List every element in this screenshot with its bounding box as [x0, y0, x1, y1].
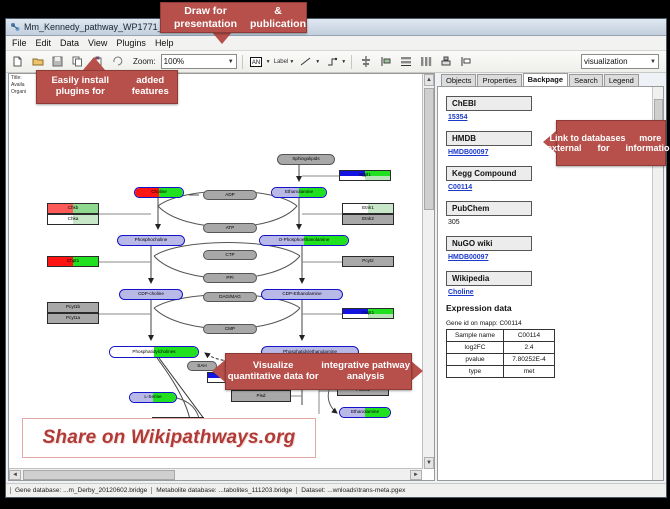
pathway-node-chka[interactable]: Chka — [47, 214, 99, 225]
table-row: type met — [447, 366, 555, 378]
callout-line: Easily install plugins for — [37, 76, 124, 98]
interaction-tool[interactable]: ▼ — [323, 53, 346, 70]
canvas-hscrollbar[interactable]: ◄ ► — [9, 468, 422, 480]
pathway-node-sgpl1[interactable]: Sgpl1 — [339, 170, 391, 181]
db-header-hmdb: HMDB — [446, 131, 532, 146]
menu-bar: File Edit Data View Plugins Help — [6, 36, 666, 51]
expression-table: Sample name C00114 log2FC 2.4 pvalue 7.8… — [446, 329, 555, 378]
pathway-node-chkb[interactable]: Chkb — [47, 203, 99, 214]
menu-item-plugins[interactable]: Plugins — [116, 38, 146, 48]
callout-line: integrative pathway analysis — [320, 361, 411, 383]
node-label: Pcyt1b — [66, 305, 80, 310]
align-left-icon[interactable] — [377, 53, 394, 70]
table-row: log2FC 2.4 — [447, 342, 555, 354]
node-label: Pisd — [257, 394, 266, 399]
exp-val-type: met — [504, 366, 555, 378]
node-label: Choline — [151, 190, 167, 195]
node-label: PPi — [226, 276, 233, 281]
node-label: L-Serine — [144, 395, 161, 400]
db-link-wikipedia[interactable]: Choline — [448, 289, 644, 296]
exp-key-log2fc: log2FC — [447, 342, 504, 354]
chevron-down-icon: ▼ — [228, 59, 234, 65]
pathway-node-pcyt2[interactable]: Pcyt2 — [342, 256, 394, 267]
scroll-down-icon[interactable]: ▼ — [424, 457, 434, 469]
app-icon — [10, 22, 20, 32]
callout-line: Visualize quantitative data for — [226, 361, 320, 383]
node-label: DAG/MAG — [219, 295, 241, 300]
toolbar-separator — [242, 55, 243, 69]
zoom-label: Zoom: — [133, 57, 156, 66]
label-button-text: Label — [274, 59, 289, 65]
callout-install-plugins: Easily install plugins foradded features — [36, 70, 178, 104]
scroll-left-icon[interactable]: ◄ — [9, 470, 21, 480]
datanode-tool[interactable]: AN ▼ — [248, 53, 271, 70]
exp-key-sample-name: Sample name — [447, 330, 504, 342]
pathway-node-etn_r[interactable]: Ethanolamine — [339, 407, 391, 418]
pathway-node-cept1[interactable]: Cept1 — [342, 308, 394, 319]
table-row: pvalue 7.80252E-4 — [447, 354, 555, 366]
node-label: Etnk2 — [362, 217, 374, 222]
pathway-node-ethanolamine[interactable]: Ethanolamine — [271, 187, 327, 198]
node-label: CDP-Ethanolamine — [282, 292, 321, 297]
db-header-nugowiki: NuGO wiki — [446, 236, 532, 251]
pathway-node-choline_top[interactable]: Choline — [134, 187, 184, 198]
save-icon[interactable] — [49, 53, 66, 70]
chevron-down-icon[interactable]: ▼ — [315, 59, 320, 65]
node-label: Pcyt2 — [362, 259, 374, 264]
pathway-node-lserine_l[interactable]: L-Serine — [129, 392, 177, 403]
undo-icon[interactable] — [109, 53, 126, 70]
align-center-icon[interactable] — [357, 53, 374, 70]
canvas-vscrollbar[interactable]: ▲ ▼ — [422, 74, 434, 469]
pathway-node-sphingolipids[interactable]: Sphingolipids — [277, 154, 335, 165]
callout-line: & publication — [250, 5, 306, 29]
node-label: O-Phosphoethanolamine — [279, 238, 330, 243]
callout-line: added features — [124, 76, 178, 98]
tab-objects[interactable]: Objects — [441, 74, 476, 86]
node-label: Chka — [68, 217, 79, 222]
node-label: ATP — [226, 226, 235, 231]
node-label: Chkb — [68, 206, 79, 211]
svg-text:AN: AN — [252, 60, 260, 66]
menu-item-view[interactable]: View — [88, 38, 107, 48]
pathway-node-phosphocholine[interactable]: Phosphocholine — [117, 235, 185, 246]
node-label: Sgpl1 — [359, 173, 371, 178]
db-header-kegg: Kegg Compound — [446, 166, 532, 181]
tab-legend[interactable]: Legend — [604, 74, 639, 86]
exp-val-pvalue: 7.80252E-4 — [504, 354, 555, 366]
distribute-horizontal-icon[interactable] — [417, 53, 434, 70]
tab-backpage[interactable]: Backpage — [523, 73, 568, 86]
chevron-down-icon[interactable]: ▼ — [289, 59, 294, 65]
callout-line: more information — [626, 133, 670, 154]
callout-share-wikipathways: Share on Wikipathways.org — [22, 418, 316, 458]
toolbar-separator — [351, 55, 352, 69]
exp-val-sample-name: C00114 — [504, 330, 555, 342]
callout-arrow-left-visualize — [212, 360, 225, 382]
zoom-combobox[interactable]: 100% ▼ — [161, 54, 237, 69]
node-label: Phosphatidylcholines — [132, 350, 175, 355]
scroll-up-icon[interactable]: ▲ — [424, 74, 434, 86]
tab-search[interactable]: Search — [569, 74, 603, 86]
pathway-node-adp[interactable]: ADP — [203, 190, 257, 200]
pathway-node-cmp[interactable]: CMP — [203, 324, 257, 334]
scroll-right-icon[interactable]: ► — [410, 470, 422, 480]
pathway-node-ptdcholine[interactable]: Phosphatidylcholines — [109, 346, 199, 358]
node-label: ADP — [225, 193, 234, 198]
share-text: Share on Wikipathways.org — [43, 427, 296, 449]
screenshot-root: Mm_Kennedy_pathway_WP1771_45176.gpml Fil… — [0, 0, 670, 509]
pathway-node-pisd[interactable]: Pisd — [231, 390, 291, 402]
node-label: Sphingolipids — [292, 157, 319, 162]
status-metabolite-database: Metabolite database: ...tabolites_111203… — [151, 487, 292, 494]
node-label: SAH — [197, 364, 206, 369]
callout-line: Link to external — [547, 133, 582, 154]
open-folder-icon[interactable] — [29, 53, 46, 70]
db-header-chebi: ChEBI — [446, 96, 532, 111]
vscroll-thumb[interactable] — [424, 88, 434, 210]
node-label: Chpt1 — [67, 259, 79, 264]
hscroll-thumb[interactable] — [23, 470, 175, 480]
node-label: Etnk1 — [362, 206, 374, 211]
pathway-node-pcyt1b[interactable]: Pcyt1b — [47, 302, 99, 313]
pathway-node-atp[interactable]: ATP — [203, 223, 257, 233]
chevron-down-icon: ▼ — [650, 59, 656, 65]
group-icon[interactable] — [437, 53, 454, 70]
datanode-icon[interactable]: AN — [248, 53, 265, 70]
callout-external-links: Link to externaldatabases formore inform… — [556, 120, 666, 166]
callout-arrow-up-plugins — [83, 57, 105, 70]
pathway-node-ctp[interactable]: CTP — [203, 250, 257, 260]
gene-id-label: Gene id on mapp: C00114 — [446, 320, 644, 327]
line-tool[interactable]: ▼ — [297, 53, 320, 70]
node-label: CDP-choline — [138, 292, 164, 297]
status-bar: Gene database: ...m_Derby_20120602.bridg… — [6, 483, 666, 497]
distribute-vertical-icon[interactable] — [397, 53, 414, 70]
db-link-nugowiki[interactable]: HMDB00097 — [448, 254, 644, 261]
side-panel-tabs: Objects Properties Backpage Search Legen… — [437, 73, 664, 86]
node-label: Ethanolamine — [285, 190, 313, 195]
pathway-node-dagmag[interactable]: DAG/MAG — [203, 292, 257, 302]
expression-data-heading: Expression data — [446, 303, 644, 313]
status-gene-database: Gene database: ...m_Derby_20120602.bridg… — [10, 487, 147, 494]
node-label: Phosphocholine — [135, 238, 168, 243]
line-icon[interactable] — [297, 53, 314, 70]
pathway-node-chpt1[interactable]: Chpt1 — [47, 256, 99, 267]
node-label: CTP — [225, 253, 234, 258]
callout-visualize-quantitative-data: Visualize quantitative data forintegrati… — [225, 353, 412, 390]
db-header-pubchem: PubChem — [446, 201, 532, 216]
db-link-kegg[interactable]: C00114 — [448, 184, 644, 191]
table-row: Sample name C00114 — [447, 330, 555, 342]
db-value-pubchem: 305 — [448, 219, 644, 226]
exp-val-log2fc: 2.4 — [504, 342, 555, 354]
new-file-icon[interactable] — [9, 53, 26, 70]
exp-key-pvalue: pvalue — [447, 354, 504, 366]
db-header-wikipedia: Wikipedia — [446, 271, 532, 286]
visualization-value: visualization — [584, 57, 628, 66]
title-bar: Mm_Kennedy_pathway_WP1771_45176.gpml — [6, 19, 666, 36]
menu-item-edit[interactable]: Edit — [36, 38, 52, 48]
pathway-node-etnk2[interactable]: Etnk2 — [342, 214, 394, 225]
node-label: CMP — [225, 327, 235, 332]
menu-item-help[interactable]: Help — [155, 38, 174, 48]
node-label: Ethanolamine — [351, 410, 379, 415]
callout-line: Draw for presentation — [161, 5, 250, 29]
pathway-node-ppi[interactable]: PPi — [203, 273, 257, 283]
tab-properties[interactable]: Properties — [477, 74, 521, 86]
visualization-combobox[interactable]: visualization ▼ — [581, 54, 659, 69]
node-label: Pcyt1a — [66, 316, 80, 321]
chevron-down-icon[interactable]: ▼ — [266, 59, 271, 65]
interaction-icon[interactable] — [323, 53, 340, 70]
pathway-node-cdpetn[interactable]: CDP-Ethanolamine — [261, 289, 343, 300]
pathway-node-etnk1[interactable]: Etnk1 — [342, 203, 394, 214]
menu-item-data[interactable]: Data — [60, 38, 79, 48]
menu-item-file[interactable]: File — [12, 38, 27, 48]
status-dataset: Dataset: ...wnloads\trans-meta.pgex — [296, 487, 405, 494]
pathway-node-ophosphoeth[interactable]: O-Phosphoethanolamine — [259, 235, 349, 246]
chevron-down-icon[interactable]: ▼ — [341, 59, 346, 65]
callout-draw-for-publication: Draw for presentation& publication — [160, 2, 307, 33]
pathway-node-cdpcholine[interactable]: CDP-choline — [119, 289, 183, 300]
ungroup-icon[interactable] — [457, 53, 474, 70]
zoom-value: 100% — [164, 57, 184, 66]
node-label: Cept1 — [362, 311, 374, 316]
label-tool[interactable]: Label ▼ — [274, 59, 295, 65]
pathway-node-pcyt1a[interactable]: Pcyt1a — [47, 313, 99, 324]
exp-key-type: type — [447, 366, 504, 378]
callout-line: databases for — [582, 133, 626, 154]
